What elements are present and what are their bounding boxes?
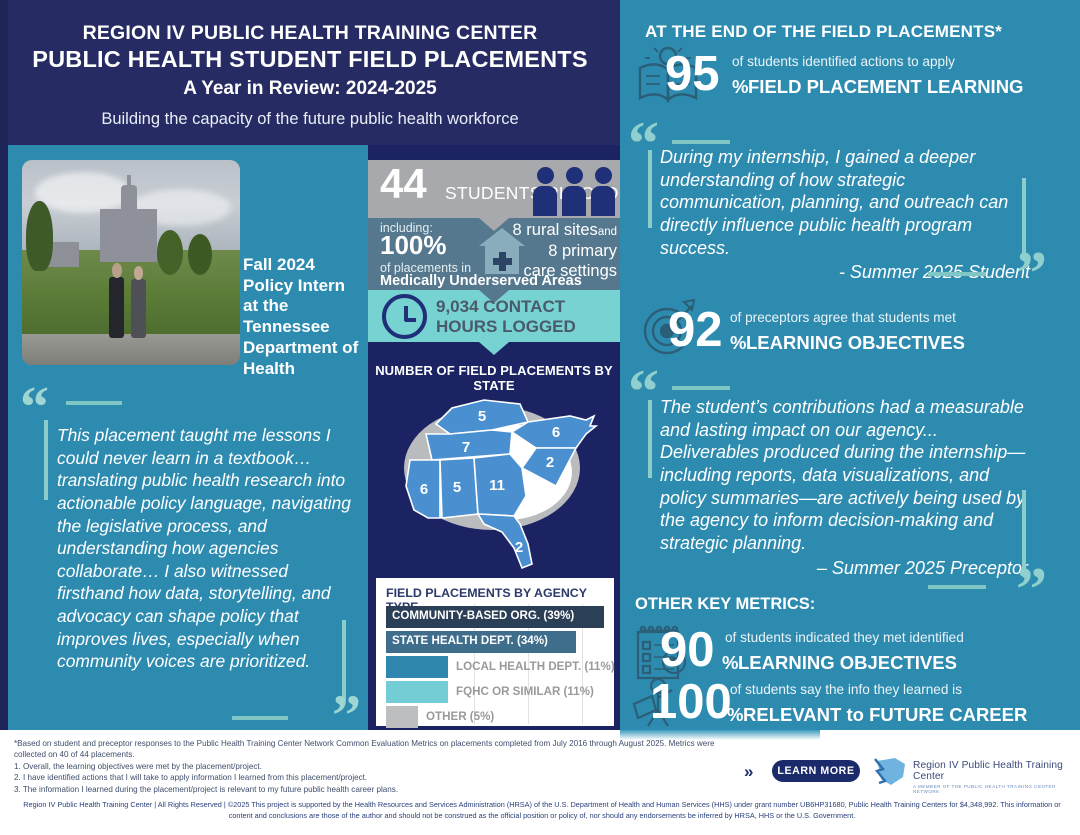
logo-line-2: A MEMBER OF THE PUBLIC HEALTH TRAINING C… — [913, 784, 1080, 794]
photo-tree — [26, 201, 52, 271]
person-glyph — [562, 167, 586, 216]
photo-tree — [188, 234, 212, 275]
title-line-1: REGION IV PUBLIC HEALTH TRAINING CENTER — [8, 22, 612, 45]
quote-rule — [672, 386, 730, 390]
stat-100-bold-text: RELEVANT to FUTURE CAREER — [743, 704, 1027, 726]
map-value-georgia: 11 — [489, 477, 505, 494]
left-accent-strip — [0, 0, 8, 730]
contact-hours-line-2: HOURS LOGGED — [436, 317, 576, 336]
student-quote-right: During my internship, I gained a deeper … — [660, 146, 1030, 284]
preceptor-quote: The student’s contributions had a measur… — [660, 396, 1028, 579]
open-quote-icon: “ — [628, 370, 659, 415]
quote-rule — [66, 401, 122, 405]
infographic-page: REGION IV PUBLIC HEALTH TRAINING CENTER … — [0, 0, 1080, 835]
quote2-attribution: – Summer 2025 Preceptor — [660, 557, 1028, 580]
footnote-3: 3. The information I learned during the … — [14, 784, 734, 795]
band-arrow — [479, 342, 509, 355]
person-glyph — [533, 167, 557, 216]
region-iv-logo-text: Region IV Public Health Training Center … — [913, 760, 1080, 794]
quote-rule — [232, 716, 288, 720]
stat-95-percent: % — [732, 76, 748, 98]
map-value-florida: 2 — [515, 539, 523, 556]
agency-type-chart: FIELD PLACEMENTS BY AGENCY TYPE COMMUNIT… — [376, 578, 614, 726]
map-value-alabama: 5 — [453, 479, 461, 496]
quote1-text: During my internship, I gained a deeper … — [660, 147, 1008, 258]
footnote-1: 1. Overall, the learning objectives were… — [14, 761, 734, 772]
stat-90-percent: % — [722, 652, 738, 674]
intern-photo — [22, 160, 240, 365]
bar-row: STATE HEALTH DEPT. (34%) — [386, 631, 606, 653]
bar-other — [386, 706, 418, 728]
bar-label-other: OTHER (5%) — [426, 710, 494, 723]
bar-row: FQHC OR SIMILAR (11%) — [386, 681, 606, 703]
quote-rule — [672, 140, 730, 144]
bar-row: OTHER (5%) — [386, 706, 606, 728]
right-column-heading: AT THE END OF THE FIELD PLACEMENTS* — [645, 22, 1002, 42]
footnote-2: 2. I have identified actions that I will… — [14, 772, 734, 783]
quote2-text: The student’s contributions had a measur… — [660, 397, 1025, 553]
photo-parking-lot — [22, 334, 240, 365]
quote-accent-bar — [648, 400, 652, 478]
map-value-north-carolina: 6 — [552, 424, 560, 441]
map-value-south-carolina: 2 — [546, 454, 554, 471]
person-glyph — [591, 167, 615, 216]
map-value-kentucky: 5 — [478, 408, 486, 425]
state-placements-map: 5 7 6 2 6 5 11 2 — [380, 382, 612, 572]
title-line-3: A Year in Review: 2024-2025 — [8, 77, 612, 102]
stat-100-value: 100 — [650, 680, 732, 725]
bar-label-community-based-org: COMMUNITY-BASED ORG. (39%) — [392, 609, 574, 622]
stat-100-small-text: of students say the info they learned is — [730, 682, 962, 697]
rural-and: and — [598, 226, 617, 238]
bar-row: COMMUNITY-BASED ORG. (39%) — [386, 606, 606, 628]
title-line-2: PUBLIC HEALTH STUDENT FIELD PLACEMENTS — [8, 46, 612, 74]
title-tagline: Building the capacity of the future publ… — [8, 110, 612, 129]
quote-rule — [928, 585, 986, 589]
close-quote-icon: ” — [332, 694, 361, 738]
contact-hours-text: 9,034 CONTACT HOURS LOGGED — [436, 297, 616, 336]
stat-90-small-text: of students indicated they met identifie… — [725, 630, 964, 645]
footnotes: *Based on student and preceptor response… — [14, 738, 734, 795]
page-title: REGION IV PUBLIC HEALTH TRAINING CENTER … — [8, 22, 612, 129]
capitol-building — [100, 209, 157, 262]
photo-person — [109, 277, 124, 339]
bar-label-state-health-dept: STATE HEALTH DEPT. (34%) — [392, 634, 548, 647]
rural-line-1: 8 rural sites — [513, 221, 598, 239]
close-quote-icon: ” — [1016, 252, 1047, 297]
clock-icon — [382, 294, 427, 339]
stat-92-small-text: of preceptors agree that students met — [730, 310, 956, 325]
students-placed-count: 44 — [380, 163, 427, 205]
bar-fqhc-or-similar — [386, 681, 448, 703]
photo-tree — [157, 230, 183, 275]
stat-95-bold-text: FIELD PLACEMENT LEARNING — [748, 76, 1023, 98]
footnote-asterisk: *Based on student and preceptor response… — [14, 738, 734, 761]
rural-line-2: 8 primary — [548, 242, 617, 260]
map-value-mississippi: 6 — [420, 481, 428, 498]
photo-person — [131, 279, 146, 338]
bar-label-fqhc-or-similar: FQHC OR SIMILAR (11%) — [456, 685, 594, 698]
bar-row: LOCAL HEALTH DEPT. (11%) — [386, 656, 606, 678]
rural-sites-text: 8 rural sitesand 8 primary care settings — [495, 220, 617, 282]
quote-accent-bar — [648, 150, 652, 228]
chevron-right-icon: » — [744, 762, 750, 782]
rural-line-3: care settings — [523, 262, 617, 280]
quote-rule — [928, 272, 986, 276]
learn-more-button[interactable]: LEARN MORE — [772, 760, 860, 782]
photo-caption: Fall 2024 Policy Intern at the Tennessee… — [243, 255, 363, 379]
copyright-text: Region IV Public Health Training Center … — [18, 800, 1066, 821]
agency-bars: COMMUNITY-BASED ORG. (39%) STATE HEALTH … — [386, 606, 606, 731]
stat-92-percent: % — [730, 332, 746, 354]
stat-90-value: 90 — [660, 628, 715, 673]
quote-accent-bar — [44, 420, 48, 500]
stat-92-value: 92 — [668, 308, 723, 353]
stat-92-bold-text: LEARNING OBJECTIVES — [746, 332, 965, 354]
bar-local-health-dept — [386, 656, 448, 678]
close-quote-icon: ” — [1016, 568, 1047, 613]
stat-95-value: 95 — [665, 52, 720, 97]
map-value-tennessee: 7 — [462, 439, 470, 456]
region-iv-logo-icon — [873, 755, 909, 787]
student-quote-left: This placement taught me lessons I could… — [57, 424, 353, 673]
bar-label-local-health-dept: LOCAL HEALTH DEPT. (11%) — [456, 660, 615, 673]
photo-cloud — [35, 172, 131, 213]
including-percent: 100% — [380, 232, 447, 259]
stat-95-small-text: of students identified actions to apply — [732, 54, 955, 69]
right-panel-background — [620, 0, 1080, 730]
stat-100-percent: % — [727, 704, 743, 726]
logo-line-1: Region IV Public Health Training Center — [913, 760, 1080, 782]
stat-90-bold-text: LEARNING OBJECTIVES — [738, 652, 957, 674]
other-key-metrics-heading: OTHER KEY METRICS: — [635, 595, 815, 614]
contact-hours-line-1: 9,034 CONTACT — [436, 297, 565, 316]
people-icon — [533, 160, 615, 216]
open-quote-icon: “ — [628, 122, 659, 167]
